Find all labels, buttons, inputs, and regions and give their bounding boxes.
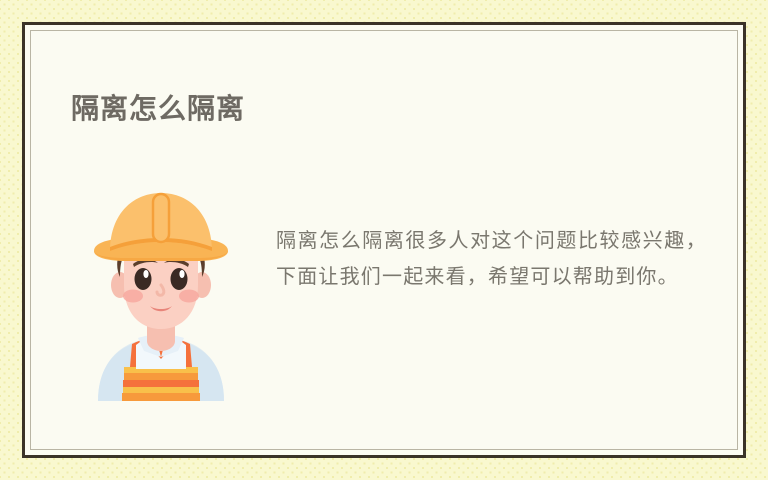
page-background: 隔离怎么隔离 [0, 0, 768, 480]
eye-left [135, 268, 152, 290]
vest-stripe-3 [123, 380, 199, 387]
article-body-text: 隔离怎么隔离很多人对这个问题比较感兴趣，下面让我们一起来看，希望可以帮助到你。 [276, 223, 707, 295]
article-content-row: 隔离怎么隔离很多人对这个问题比较感兴趣，下面让我们一起来看，希望可以帮助到你。 [71, 181, 707, 401]
vest-stripe-5 [122, 393, 200, 401]
helmet-ridge [153, 194, 169, 242]
eye-highlight-left [143, 270, 148, 278]
cheek-left [123, 290, 143, 303]
eye-highlight-right [179, 270, 184, 278]
vest-stripe-4 [123, 387, 199, 393]
eye-right [171, 268, 188, 290]
hard-hat-group [94, 193, 228, 261]
article-card-inner-frame: 隔离怎么隔离 [30, 30, 738, 450]
page-title: 隔离怎么隔离 [71, 92, 245, 126]
article-card-outer-frame: 隔离怎么隔离 [22, 22, 746, 458]
cheek-right [179, 290, 199, 303]
vest-stripe-2 [124, 373, 198, 380]
construction-worker-illustration [76, 181, 246, 401]
worker-avatar-svg [76, 181, 246, 401]
